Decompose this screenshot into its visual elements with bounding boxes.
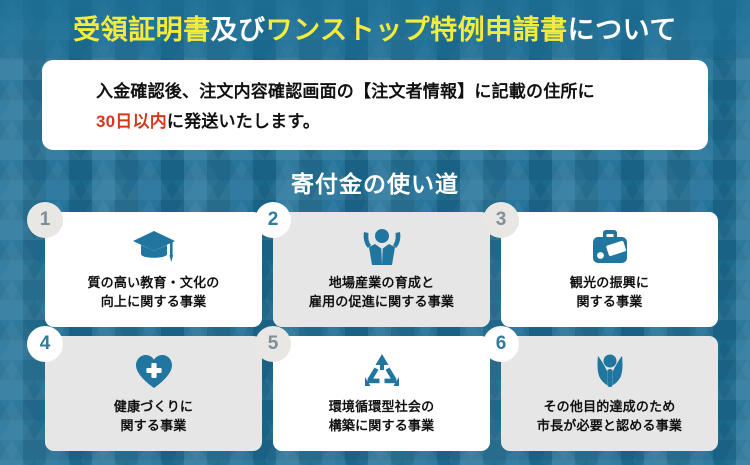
shipping-notice-card: 入金確認後、注文内容確認画面の【注文者情報】に記載の住所に 30日以内に発送いた… [42,60,708,150]
donation-usage-grid: 1 質の高い教育・文化の 向上に関する事業 2 [45,212,718,451]
page-title-part3: ワンストップ特例申請書 [266,15,568,45]
usage-card-5-line-1: 環境循環型社会の [329,397,435,416]
page-title: 受領証明書及びワンストップ特例申請書について [0,13,750,47]
usage-card-1[interactable]: 1 質の高い教育・文化の 向上に関する事業 [45,212,262,327]
usage-card-6[interactable]: 6 その他目的達成のため 市長が必要と認める事業 [501,336,718,451]
usage-card-5-number-badge: 5 [255,326,291,362]
usage-card-2-line-1: 地場産業の育成と [329,273,435,292]
usage-card-6-number-badge: 6 [483,326,519,362]
notice-line-2-rest: に発送いたします。 [167,112,320,131]
usage-card-2[interactable]: 2 地場産業の育成と 雇用の促進に関する事業 [273,212,490,327]
recycle-icon [361,351,403,391]
usage-card-2-number-badge: 2 [255,202,291,238]
usage-card-5-line-2: 構築に関する事業 [329,416,435,435]
usage-card-1-number-badge: 1 [27,202,63,238]
usage-card-3-number-badge: 3 [483,202,519,238]
usage-card-4-line-1: 健康づくりに [114,397,193,416]
usage-card-2-line-2: 雇用の促進に関する事業 [309,292,454,311]
usage-card-3-line-2: 関する事業 [576,292,642,311]
usage-card-6-line-2: 市長が必要と認める事業 [537,416,682,435]
notice-deadline-highlight: 30日以内 [96,112,167,131]
usage-card-1-line-1: 質の高い教育・文化の [87,273,219,292]
page-title-part1: 受領証明書 [73,15,211,45]
heart-plus-icon [133,351,175,391]
usage-card-1-line-2: 向上に関する事業 [101,292,207,311]
usage-card-3[interactable]: 3 観光の振興に 関する事業 [501,212,718,327]
section-title-donation-usage: 寄付金の使い道 [0,165,750,199]
person-raised-arms-icon [361,227,403,267]
usage-card-4-line-2: 関する事業 [120,416,186,435]
usage-card-3-line-1: 観光の振興に [570,273,649,292]
usage-card-4-number-badge: 4 [27,326,63,362]
page-title-part2: 及び [211,15,266,45]
notice-line-1: 入金確認後、注文内容確認画面の【注文者情報】に記載の住所に [96,77,708,107]
page-content: 受領証明書及びワンストップ特例申請書について 入金確認後、注文内容確認画面の【注… [0,0,750,465]
usage-card-5[interactable]: 5 環境循環型社会の 構築に関する事業 [273,336,490,451]
page-title-part4: について [568,15,677,45]
usage-card-4[interactable]: 4 健康づくりに 関する事業 [45,336,262,451]
person-sprout-icon [590,351,630,391]
usage-card-6-line-1: その他目的達成のため [543,397,675,416]
notice-line-2: 30日以内に発送いたします。 [96,107,708,137]
graduation-cap-icon [132,227,176,267]
suitcase-icon [588,227,632,267]
